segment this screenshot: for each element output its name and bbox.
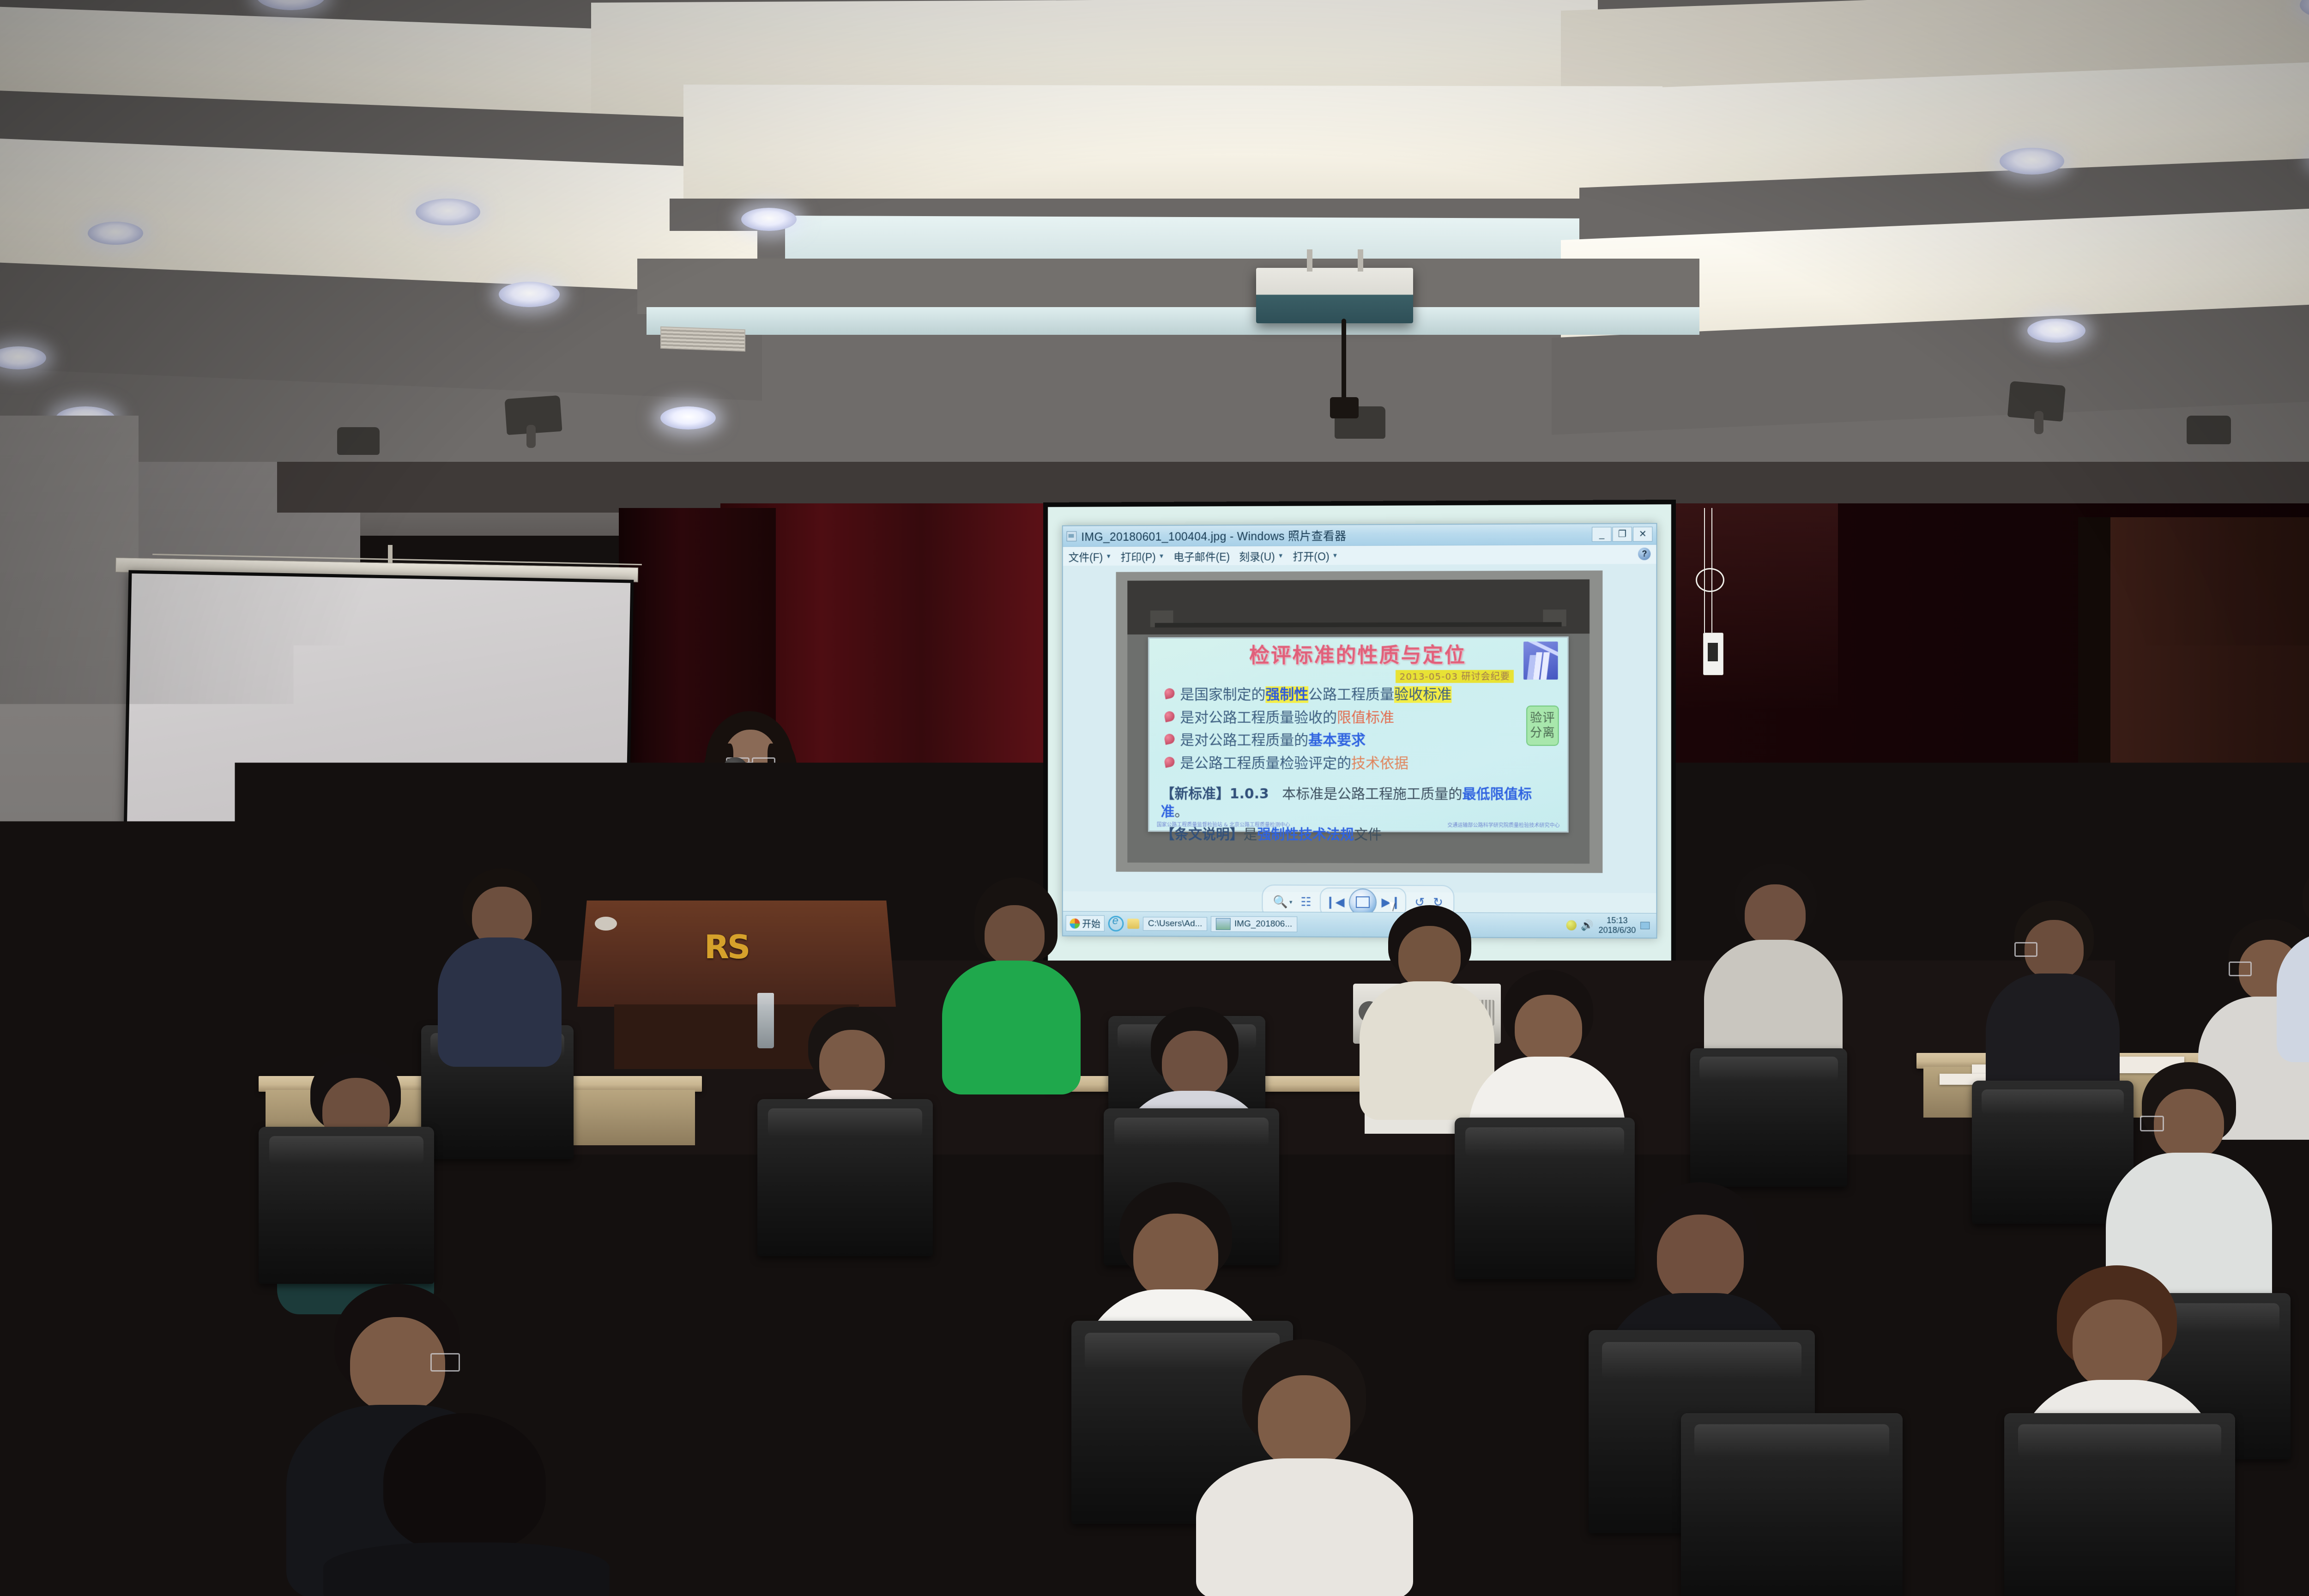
taskbar-item-explorer[interactable]: C:\Users\Ad... [1143,917,1207,931]
chair[interactable] [1681,1413,1903,1596]
menu-label: 打开(O) [1293,548,1330,563]
screen-tripod-leg [350,893,362,935]
bullet-emphasis: 验收标准 [1394,686,1451,703]
taskbar-item-label: IMG_201806... [1234,919,1292,929]
paragraph-body: 本标准是公路工程施工质量的 [1282,786,1462,802]
ceiling-downlight [499,282,560,307]
side-callout-box: 验评分离 [1526,706,1559,746]
water-bottle[interactable] [323,901,339,961]
taskbar-clock[interactable]: 15:13 2018/6/30 [1598,916,1636,935]
ceiling-downlight [741,208,797,231]
menu-item-print[interactable]: 打印(P) ▼ [1121,548,1165,564]
chevron-down-icon: ▼ [1106,553,1112,560]
chair[interactable] [1690,1048,1847,1187]
chevron-down-icon: ▼ [1159,553,1165,560]
heart-bullet-icon [1164,756,1176,768]
chair[interactable] [259,1127,434,1284]
bullet-emphasis: 限值标准 [1337,709,1394,726]
slide-footer-left: 国家公路工程质量监督检验站 & 北京公路工程质量检测中心 [1157,821,1290,828]
clock-time: 15:13 [1598,916,1636,925]
volume-icon[interactable]: 🔊 [1581,919,1594,931]
zoom-icon[interactable]: 🔍▾ [1273,895,1293,909]
slide-footer-right: 交通运输部公路科学研究院质量检验技术研究中心 [1447,821,1559,828]
taskbar-item-label: C:\Users\Ad... [1148,919,1202,929]
ceiling-mounted-projector [1256,268,1413,323]
menu-item-burn[interactable]: 刻录(U) ▼ [1239,548,1283,563]
menu-label: 文件(F) [1069,549,1103,564]
microphone [653,804,681,831]
menu-item-file[interactable]: 文件(F) ▼ [1069,548,1112,564]
slide-bullet-list: 是国家制定的强制性公路工程质量验收标准 是对公路工程质量验收的限值标准 [1161,686,1556,772]
bullet-emphasis: 技术依据 [1351,755,1408,772]
chair[interactable] [757,1099,933,1256]
microphone [720,757,750,800]
heart-bullet-icon [1164,687,1176,699]
heart-bullet-icon [1164,710,1176,722]
conference-room-photo: IMG_20180601_100404.jpg - Windows 照片查看器 … [0,0,2309,1596]
menu-label: 电子邮件(E) [1173,548,1230,564]
paragraph-emphasis: 强制性技术法规 [1257,827,1354,843]
screen-brand-label [187,882,211,890]
menu-label: 打印(P) [1121,548,1156,564]
microphone [753,780,780,815]
bullet-item: 是对公路工程质量的基本要求 [1161,732,1556,749]
ceiling-downlight [416,199,480,225]
audience-member [776,1321,970,1596]
audience-member [323,1413,610,1596]
menu-bar[interactable]: 文件(F) ▼ 打印(P) ▼ 电子邮件(E) 刻录(U) ▼ [1063,544,1656,566]
show-desktop-icon[interactable] [1640,922,1650,929]
ceiling-downlight [2027,319,2085,343]
help-icon[interactable]: ? [1638,547,1650,560]
bullet-item: 是公路工程质量检验评定的技术依据 [1161,755,1556,772]
slide-date-tag: 2013-05-03 研讨会纪要 [1161,669,1514,683]
previous-image-button[interactable]: ❙◀ [1321,894,1349,910]
ceiling-downlight [88,222,143,245]
slide-footer: 国家公路工程质量监督检验站 & 北京公路工程质量检测中心 交通运输部公路科学研究… [1149,821,1567,829]
close-button[interactable]: ✕ [1633,526,1652,541]
image-viewport: 检评标准的性质与定位 2013-05-03 研讨会纪要 验评分离 [1063,564,1656,893]
menu-item-email[interactable]: 电子邮件(E) [1173,548,1230,564]
ceiling-downlight [2000,148,2064,175]
window-title: IMG_20180601_100404.jpg - Windows 照片查看器 [1081,527,1346,544]
presentation-slide: 检评标准的性质与定位 2013-05-03 研讨会纪要 验评分离 [1148,636,1569,833]
chevron-down-icon: ▼ [1332,552,1338,559]
paragraph-lead: 【新标准】1.0.3 [1161,786,1269,802]
bullet-item: 是对公路工程质量验收的限值标准 [1161,709,1556,726]
app-icon [1067,531,1077,541]
bullet-emphasis: 强制性 [1265,686,1308,703]
paragraph-tail: 。 [1175,804,1189,820]
menu-item-open[interactable]: 打开(O) ▼ [1293,548,1338,563]
water-bottle[interactable] [757,993,774,1048]
bullet-item: 是国家制定的强制性公路工程质量验收标准 [1161,686,1556,703]
taskbar-item-photoviewer[interactable]: IMG_201806... [1211,916,1297,932]
audience-member [942,877,1081,1090]
ac-vent [660,326,745,351]
spotlight [337,427,380,455]
slide-paragraph: 【新标准】1.0.3 本标准是公路工程施工质量的最低限值标准。 [1161,785,1556,822]
update-icon[interactable] [1566,920,1576,930]
projection-screen-area: IMG_20180601_100404.jpg - Windows 照片查看器 … [1043,500,1676,969]
menu-label: 刻录(U) [1239,548,1275,563]
photo-of-slide: 检评标准的性质与定位 2013-05-03 研讨会纪要 验评分离 [1116,570,1602,873]
clock-date: 2018/6/30 [1598,925,1636,935]
chevron-down-icon: ▾ [1289,898,1293,906]
ceiling [0,0,2309,490]
bullet-text: 是对公路工程质量的 [1180,732,1308,749]
ceiling-downlight [660,406,716,429]
audience-member [1196,1339,1413,1596]
spotlight [2187,416,2231,444]
restore-button[interactable]: ❐ [1613,526,1632,541]
audience-member [434,868,563,1062]
chair[interactable] [2004,1413,2235,1596]
audience-member [2277,864,2309,1058]
fit-to-window-icon[interactable]: ☷ [1301,895,1312,909]
bullet-text: 是对公路工程质量验收的 [1180,709,1337,726]
audience-member [65,1376,323,1596]
projected-image: IMG_20180601_100404.jpg - Windows 照片查看器 … [1048,504,1671,964]
bullet-text: 是国家制定的 [1180,686,1265,703]
bullet-emphasis: 基本要求 [1308,732,1366,749]
tripod-projection-screen [123,570,634,891]
audience-member [1986,901,2120,1108]
internet-explorer-icon[interactable] [1108,916,1124,931]
minimize-button[interactable]: _ [1592,526,1611,541]
paragraph-lead: 【条文说明】 [1161,827,1244,843]
highway-logo-icon [1523,642,1558,680]
photo-viewer-window[interactable]: IMG_20180601_100404.jpg - Windows 照片查看器 … [1062,523,1657,938]
system-tray[interactable]: 🔊 15:13 2018/6/30 [1566,915,1653,935]
chair[interactable] [5,1118,171,1265]
window-controls[interactable]: _ ❐ ✕ [1592,526,1652,542]
chevron-down-icon: ▼ [1278,552,1284,559]
window-title-bar[interactable]: IMG_20180601_100404.jpg - Windows 照片查看器 … [1063,524,1656,547]
heart-bullet-icon [1164,733,1176,745]
bullet-text: 是公路工程质量检验评定的 [1180,755,1351,772]
paragraph-body: 是 [1244,827,1257,843]
date-tag-text: 2013-05-03 研讨会纪要 [1396,670,1513,683]
start-label: 开始 [1082,917,1100,930]
slide-title: 检评标准的性质与定位 [1161,645,1556,666]
paragraph-tail: 文件 [1354,827,1382,843]
folder-icon[interactable] [1127,919,1139,929]
image-thumbnail-icon [1216,918,1231,930]
podium-logo: RS [704,928,749,966]
bullet-text: 公路工程质量 [1308,686,1394,703]
